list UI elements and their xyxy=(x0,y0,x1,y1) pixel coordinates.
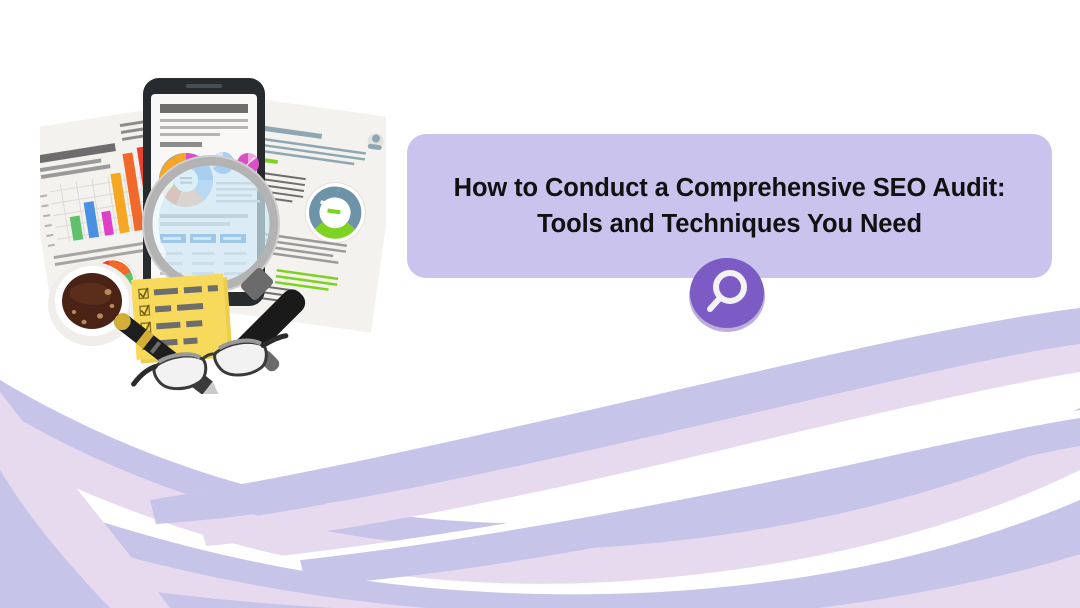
wave-left-edge-purple xyxy=(0,470,110,608)
seo-audit-illustration xyxy=(40,58,386,394)
badge-circle xyxy=(690,258,764,328)
wave-pink-mid xyxy=(0,518,1080,608)
wave-purple-ribbon-2 xyxy=(300,416,1080,586)
blog-banner: How to Conduct a Comprehensive SEO Audit… xyxy=(0,0,1080,608)
wave-white-sliver-3 xyxy=(280,410,1080,562)
wave-purple-back xyxy=(0,380,1080,608)
wave-pink-back xyxy=(0,408,1080,608)
wave-pink-front xyxy=(0,554,1080,608)
wave-left-edge-pink xyxy=(0,392,170,608)
wave-white-sliver-1 xyxy=(0,452,1080,608)
page-title-line-1: How to Conduct a Comprehensive SEO Audit… xyxy=(454,170,1006,206)
wave-purple-front xyxy=(0,528,1080,608)
search-badge[interactable] xyxy=(687,256,767,332)
page-title-line-2: Tools and Techniques You Need xyxy=(537,206,922,242)
coffee-cup xyxy=(48,262,136,346)
wave-purple-mid xyxy=(0,486,1080,608)
